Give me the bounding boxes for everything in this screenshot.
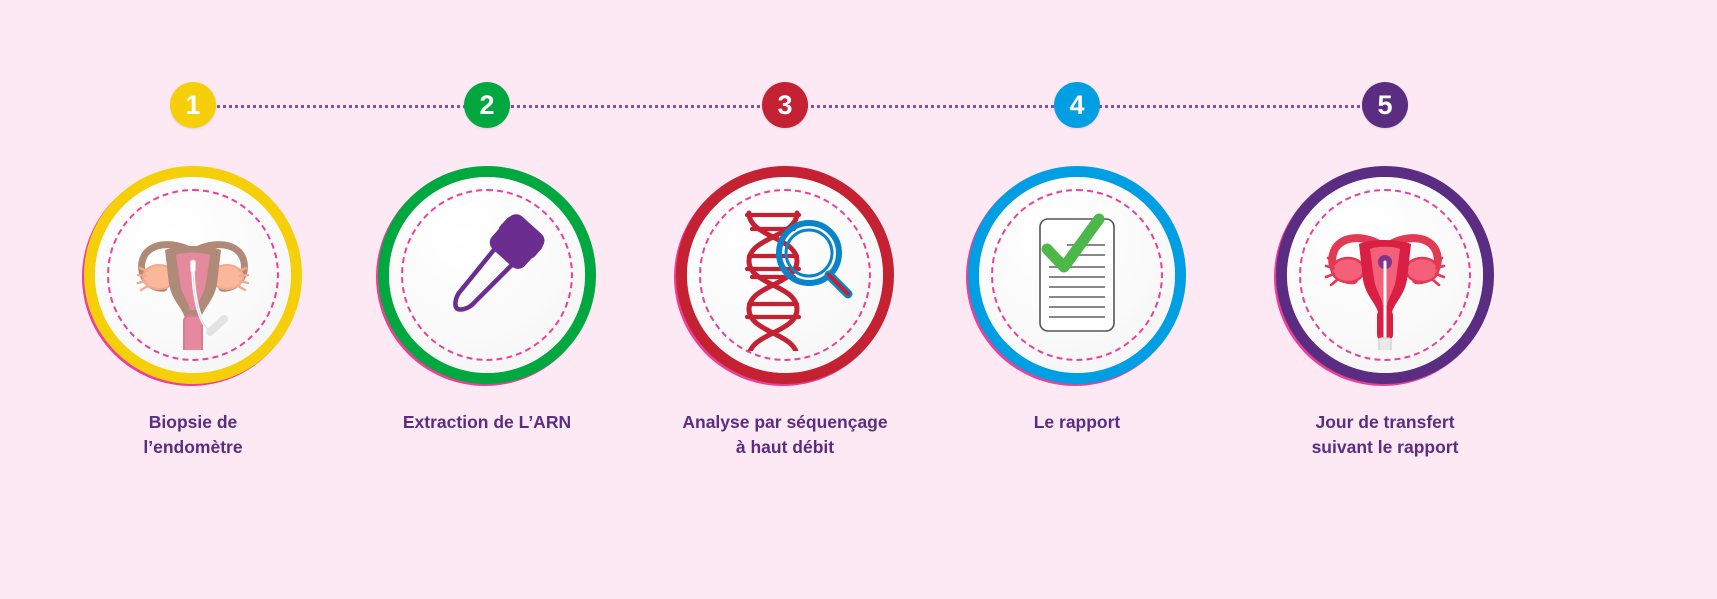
infographic-stage: 1 xyxy=(0,0,1717,599)
step-label-1: Biopsie de l’endomètre xyxy=(43,410,343,460)
step-icon-circle-5[interactable] xyxy=(1276,166,1494,384)
step-badge-4[interactable]: 4 xyxy=(1054,82,1100,128)
step-icon-circle-2[interactable] xyxy=(378,166,596,384)
dna-magnifier-icon xyxy=(706,196,864,354)
step-icon-circle-4[interactable] xyxy=(968,166,1186,384)
step-label-2: Extraction de L’ARN xyxy=(337,410,637,435)
embryo-transfer-icon xyxy=(1306,196,1464,354)
step-label-5: Jour de transfert suivant le rapport xyxy=(1235,410,1535,460)
step-badge-2[interactable]: 2 xyxy=(464,82,510,128)
step-icon-circle-1[interactable] xyxy=(84,166,302,384)
step-label-3: Analyse par séquençage à haut débit xyxy=(635,410,935,460)
step-label-4: Le rapport xyxy=(927,410,1227,435)
report-checkmark-icon xyxy=(998,196,1156,354)
step-icon-circle-3[interactable] xyxy=(676,166,894,384)
step-badge-5[interactable]: 5 xyxy=(1362,82,1408,128)
pipette-dropper-icon xyxy=(408,196,566,354)
uterus-biopsy-icon xyxy=(114,196,272,354)
step-badge-3[interactable]: 3 xyxy=(762,82,808,128)
step-badge-1[interactable]: 1 xyxy=(170,82,216,128)
